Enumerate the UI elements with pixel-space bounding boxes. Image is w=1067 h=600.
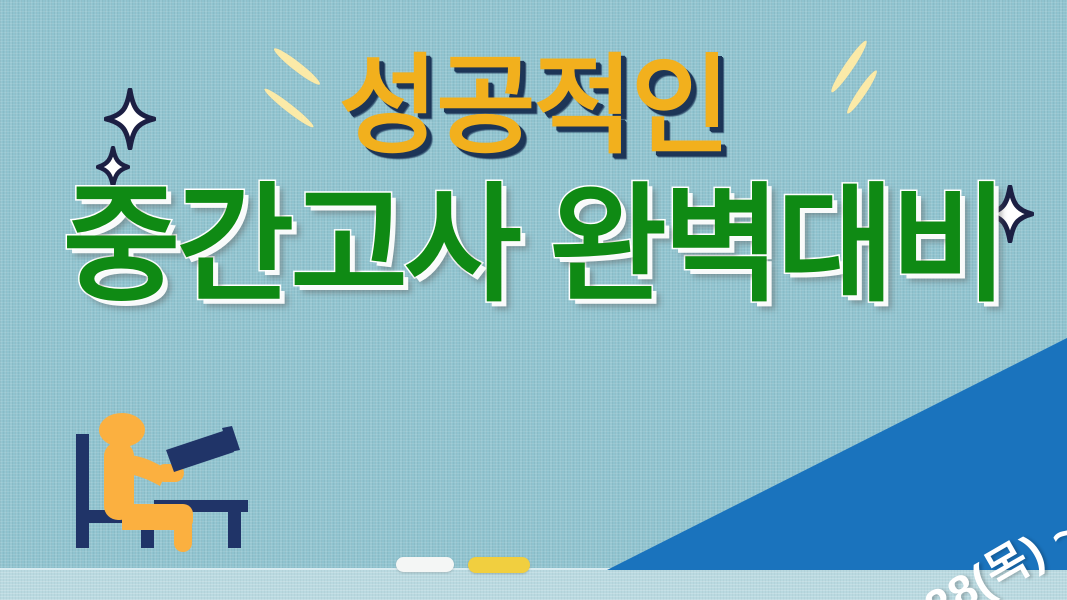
headline-line-1: 성공적인 xyxy=(0,52,1067,160)
desk-leg xyxy=(228,500,241,548)
person-head xyxy=(99,413,145,447)
student-reading-illustration xyxy=(70,412,270,572)
sparkle-icon xyxy=(104,88,156,150)
speed-streak xyxy=(271,45,322,88)
chair-back-post xyxy=(76,434,89,548)
speed-streak xyxy=(262,86,316,130)
speed-streak xyxy=(844,68,880,116)
headline-block: 성공적인 중간고사 완벽대비 xyxy=(0,52,1067,310)
headline-line-2: 중간고사 완벽대비 xyxy=(0,182,1067,310)
white-eraser xyxy=(396,557,454,572)
person-torso xyxy=(104,442,134,520)
sparkle-icon xyxy=(986,185,1034,243)
sparkle-icon xyxy=(96,146,130,188)
open-book-page-left xyxy=(166,430,234,472)
yellow-pencil xyxy=(468,557,530,573)
promo-banner: 성공적인 중간고사 완벽대비 08.28(목) ~ xyxy=(0,0,1067,600)
